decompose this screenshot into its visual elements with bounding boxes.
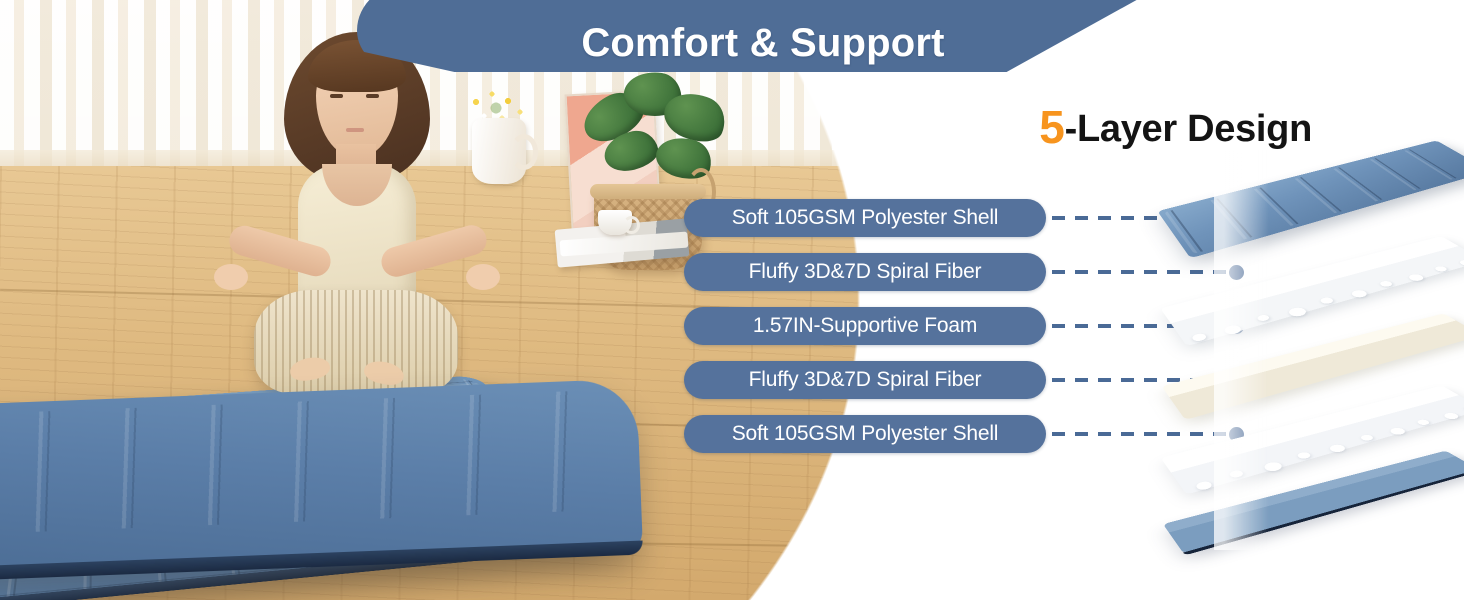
layer-label-pill: Fluffy 3D&7D Spiral Fiber [684,361,1046,399]
layer-callout-list: Soft 105GSM Polyester Shell Fluffy 3D&7D… [684,199,1244,469]
layer-label-pill: 1.57IN-Supportive Foam [684,307,1046,345]
section-heading: 5-Layer Design [1039,100,1312,154]
exploded-layer-stack [1214,150,1464,550]
product-infographic: Comfort & Support 5-Layer Design Soft 10… [0,0,1464,600]
layer-callout-row: 1.57IN-Supportive Foam [684,307,1244,345]
layer-callout-row: Fluffy 3D&7D Spiral Fiber [684,361,1244,399]
layer-label-text: Fluffy 3D&7D Spiral Fiber [749,368,982,392]
seated-woman [232,28,482,378]
layer-callout-row: Soft 105GSM Polyester Shell [684,199,1244,237]
hand [214,264,248,290]
striped-pants [254,290,458,394]
layer-count-suffix: -Layer Design [1065,108,1312,150]
banner-title: Comfort & Support [581,21,944,66]
layer-slab-shell-top [1157,140,1464,258]
dashed-connector-line [1052,270,1227,274]
layer-label-text: Soft 105GSM Polyester Shell [732,422,999,446]
dashed-connector-line [1052,432,1227,436]
layer-label-pill: Soft 105GSM Polyester Shell [684,415,1046,453]
layer-count-number: 5 [1039,101,1064,153]
layer-label-text: Fluffy 3D&7D Spiral Fiber [749,260,982,284]
hand [466,264,500,290]
mattress-foreground-edge [0,379,643,582]
layer-label-pill: Fluffy 3D&7D Spiral Fiber [684,253,1046,291]
layer-label-text: 1.57IN-Supportive Foam [753,314,977,338]
teacup [598,210,632,235]
eye [330,94,343,98]
layer-callout-row: Soft 105GSM Polyester Shell [684,415,1244,453]
layer-callout-row: Fluffy 3D&7D Spiral Fiber [684,253,1244,291]
eye [366,94,379,98]
layer-label-pill: Soft 105GSM Polyester Shell [684,199,1046,237]
mouth [346,128,364,132]
headline-banner: Comfort & Support [357,0,1169,72]
layer-label-text: Soft 105GSM Polyester Shell [732,206,999,230]
